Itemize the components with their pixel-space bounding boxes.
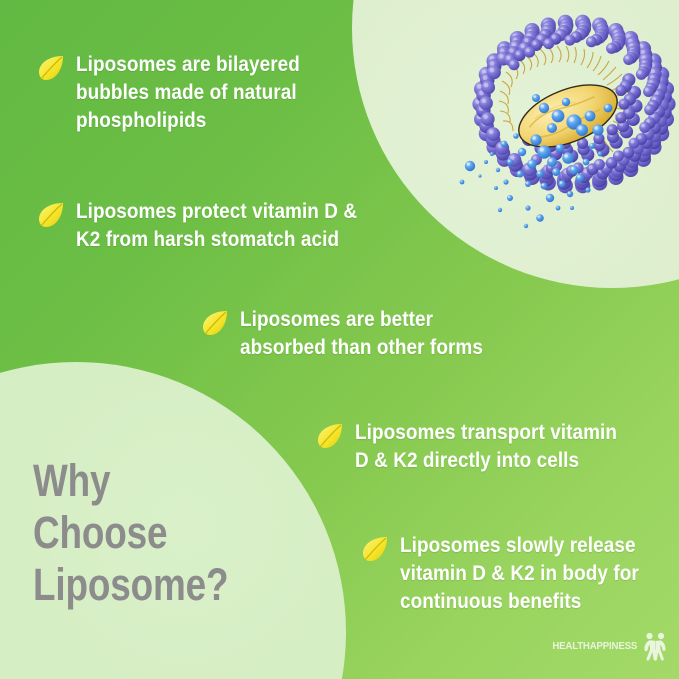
bullet-item: Liposomes transport vitamin D & K2 direc… <box>315 418 675 474</box>
active-figure-icon <box>641 631 667 661</box>
bullet-text: Liposomes are better absorbed than other… <box>240 305 483 361</box>
leaf-icon <box>36 200 66 230</box>
bullet-item: Liposomes are better absorbed than other… <box>200 305 560 361</box>
leaf-icon <box>200 308 230 338</box>
bullet-text: Liposomes slowly release vitamin D & K2 … <box>400 531 639 615</box>
bullet-item: Liposomes protect vitamin D & K2 from ha… <box>36 197 431 253</box>
infographic-canvas: Liposomes are bilayered bubbles made of … <box>0 0 679 679</box>
brand-name: HEALTHAPPINESS <box>552 640 637 652</box>
bullet-item: Liposomes slowly release vitamin D & K2 … <box>360 531 679 615</box>
bullet-text: Liposomes protect vitamin D & K2 from ha… <box>76 197 357 253</box>
leaf-icon <box>315 421 345 451</box>
leaf-icon <box>360 534 390 564</box>
liposome-diagram <box>440 12 678 240</box>
bullet-text: Liposomes transport vitamin D & K2 direc… <box>355 418 617 474</box>
brand-logo: HEALTHAPPINESS <box>545 631 667 661</box>
bullet-item: Liposomes are bilayered bubbles made of … <box>36 50 366 134</box>
leaf-icon <box>36 53 66 83</box>
page-title: Why Choose Liposome? <box>33 455 228 611</box>
bullet-text: Liposomes are bilayered bubbles made of … <box>76 50 300 134</box>
